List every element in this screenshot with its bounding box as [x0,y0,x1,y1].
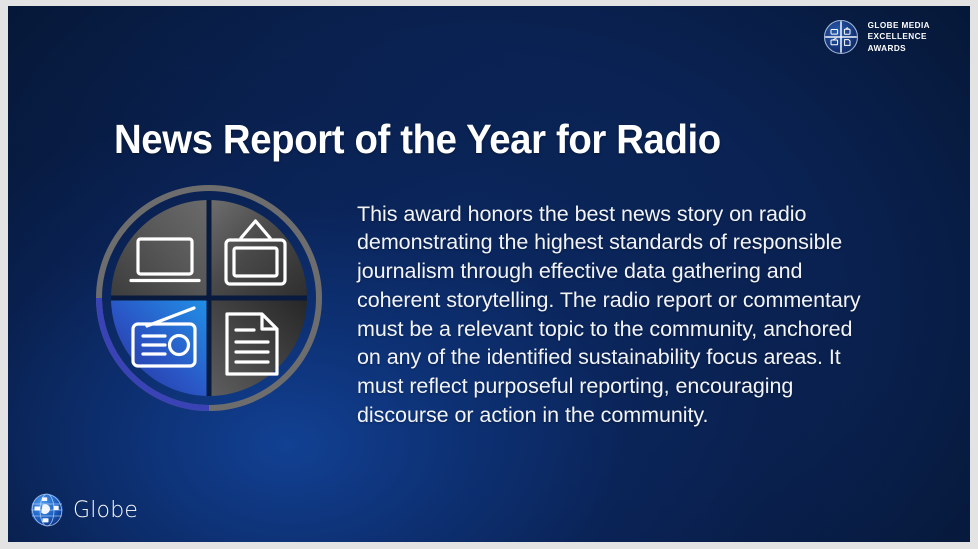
page-title: News Report of the Year for Radio [114,116,721,163]
emblem-quadrant-top-left [111,200,209,298]
slide-frame: GLOBE MEDIA EXCELLENCE AWARDS News Repor… [0,0,978,549]
slide-canvas: GLOBE MEDIA EXCELLENCE AWARDS News Repor… [8,6,970,542]
globe-sphere-icon [30,493,64,527]
media-category-emblem [93,182,325,414]
gmea-logo-text: GLOBE MEDIA EXCELLENCE AWARDS [868,20,930,55]
award-description: This award honors the best news story on… [357,200,877,430]
gmea-logo: GLOBE MEDIA EXCELLENCE AWARDS [823,19,930,55]
gmea-line-2: EXCELLENCE [868,31,930,43]
gmea-line-3: AWARDS [868,43,930,55]
gmea-line-1: GLOBE MEDIA [868,20,930,32]
globe-logo: Globe [30,493,138,527]
globe-wordmark: Globe [73,498,138,523]
gmea-emblem-icon [823,19,859,55]
